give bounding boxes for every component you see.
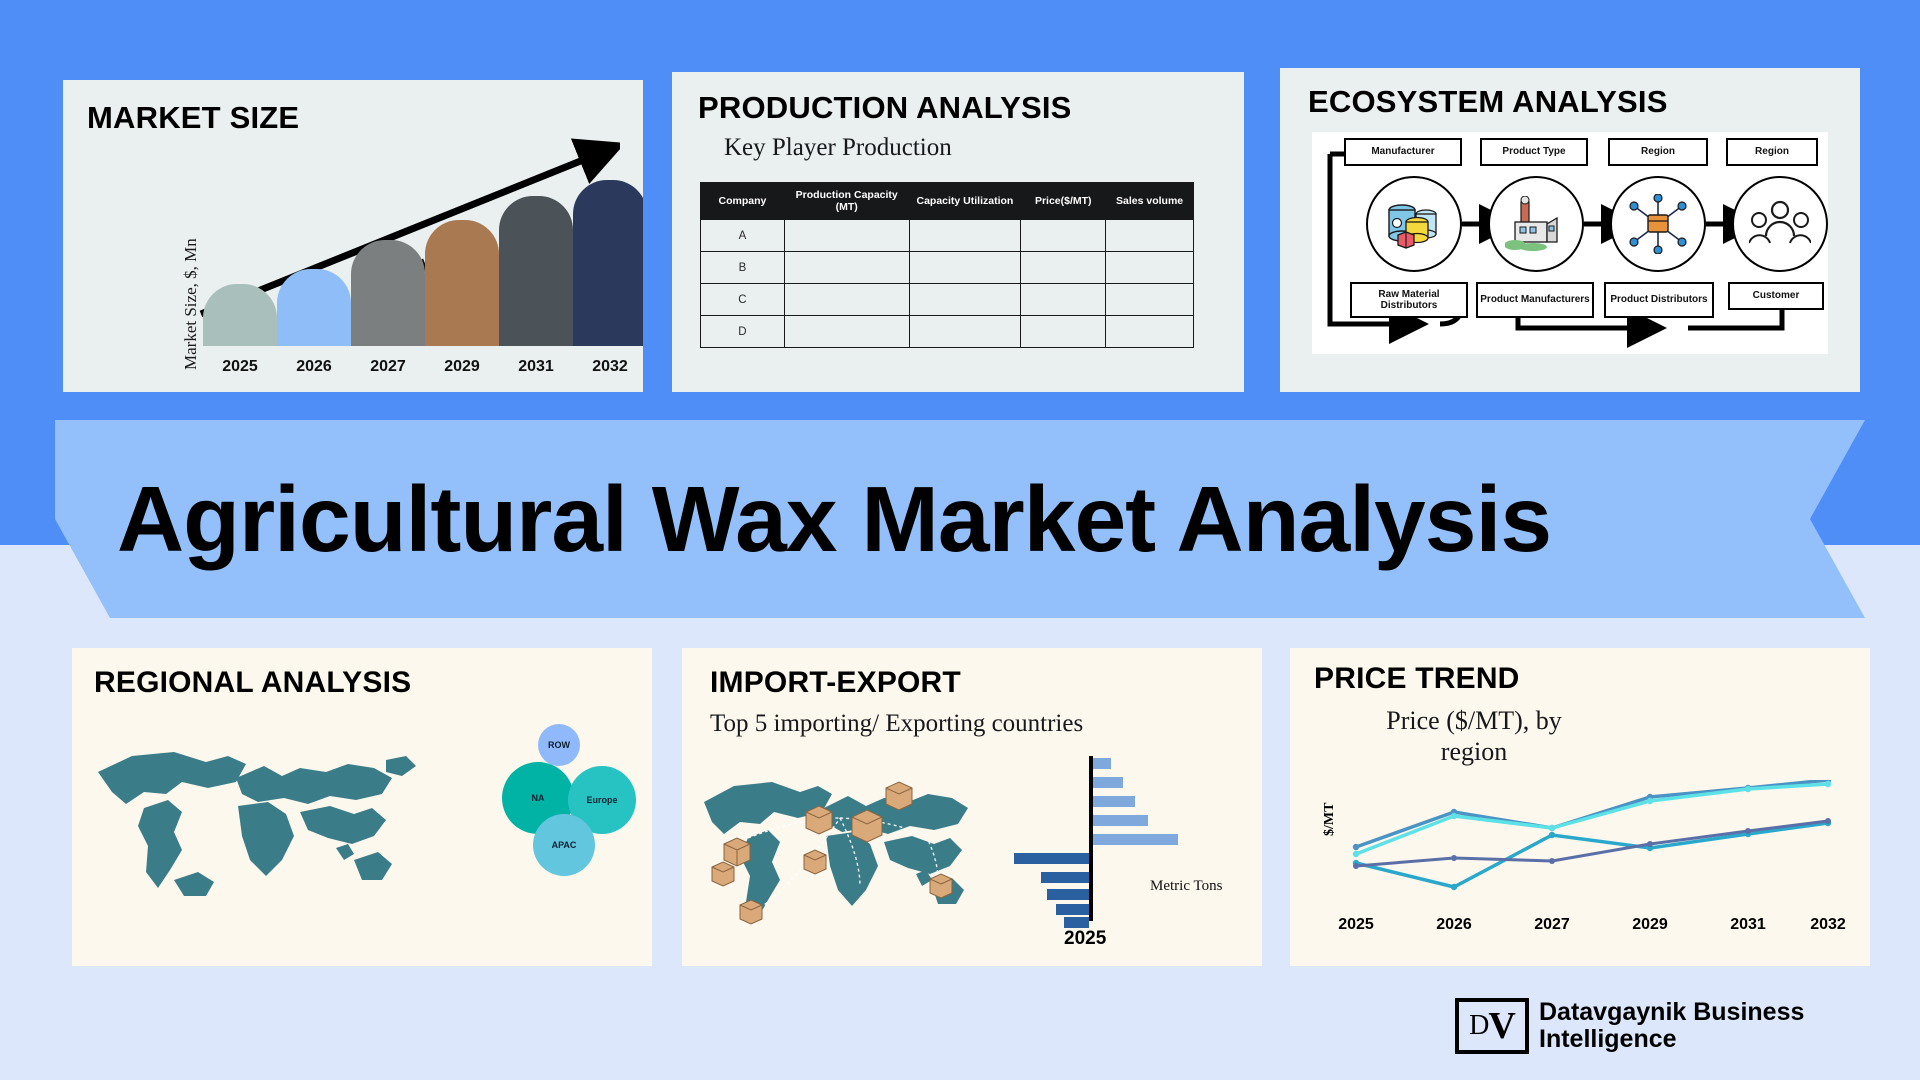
bar-year-label: 2026 bbox=[277, 358, 351, 376]
trade-world-map-icon bbox=[700, 758, 980, 948]
cell-company: B bbox=[701, 252, 785, 284]
bar-2029 bbox=[425, 220, 499, 346]
production-title: PRODUCTION ANALYSIS bbox=[698, 90, 1072, 126]
col-utilization: Capacity Utilization bbox=[909, 183, 1021, 220]
export-bar-5 bbox=[1064, 917, 1089, 928]
card-ecosystem-analysis: ECOSYSTEM ANALYSIS bbox=[1280, 68, 1860, 392]
cell-company: D bbox=[701, 316, 785, 348]
factory-icon bbox=[1505, 196, 1567, 252]
eco-top-box-region-2: Region bbox=[1726, 138, 1818, 166]
col-capacity: Production Capacity (MT) bbox=[784, 183, 909, 220]
logo-line-1: Datavgaynik Business bbox=[1539, 999, 1804, 1027]
bar-year-label: 2025 bbox=[203, 358, 277, 376]
export-bar-4 bbox=[1056, 904, 1089, 915]
tornado-unit-label: Metric Tons bbox=[1150, 878, 1222, 895]
card-market-size: MARKET SIZE Market Size, $, Mn CAGR~15% … bbox=[63, 80, 643, 392]
col-price: Price($/MT) bbox=[1021, 183, 1106, 220]
bar-year-label: 2027 bbox=[351, 358, 425, 376]
pt-year-label: 2025 bbox=[1327, 916, 1385, 934]
eco-top-box-region-1: Region bbox=[1608, 138, 1708, 166]
cell-capacity bbox=[784, 284, 909, 316]
cell-utilization bbox=[909, 284, 1021, 316]
cell-sales bbox=[1106, 316, 1194, 348]
barrels-icon bbox=[1384, 197, 1444, 251]
pt-year-label: 2031 bbox=[1719, 916, 1777, 934]
logo-letter-v: V bbox=[1488, 1007, 1514, 1045]
price-trend-lines bbox=[1338, 780, 1848, 910]
people-icon bbox=[1749, 198, 1811, 250]
ecosystem-diagram: Manufacturer Product Type Region Region bbox=[1312, 132, 1828, 354]
table-row: A bbox=[701, 220, 1194, 252]
bar-2031 bbox=[499, 196, 573, 346]
eco-node-circle-customer bbox=[1732, 176, 1828, 272]
eco-bottom-box-customer: Customer bbox=[1728, 282, 1824, 310]
cell-company: A bbox=[701, 220, 785, 252]
price-trend-y-axis-label: $/MT bbox=[1322, 803, 1338, 836]
infographic-page: MARKET SIZE Market Size, $, Mn CAGR~15% … bbox=[0, 0, 1920, 1080]
eco-node-circle-raw-material bbox=[1366, 176, 1462, 272]
market-size-title: MARKET SIZE bbox=[87, 100, 299, 136]
eco-bottom-box-product-manufacturers: Product Manufacturers bbox=[1476, 282, 1594, 318]
cell-capacity bbox=[784, 252, 909, 284]
import-bar-3 bbox=[1093, 796, 1135, 807]
card-production-analysis: PRODUCTION ANALYSIS Key Player Productio… bbox=[672, 72, 1244, 392]
card-import-export: IMPORT-EXPORT Top 5 importing/ Exporting… bbox=[682, 648, 1262, 966]
bar-year-label: 2031 bbox=[499, 358, 573, 376]
bar-year-label: 2032 bbox=[573, 358, 643, 376]
import-bar-1 bbox=[1093, 758, 1111, 769]
pt-year-label: 2026 bbox=[1425, 916, 1483, 934]
cell-sales bbox=[1106, 252, 1194, 284]
regional-title: REGIONAL ANALYSIS bbox=[94, 666, 411, 700]
bar-2032 bbox=[573, 180, 643, 346]
eco-node-circle-product-manufacturers bbox=[1488, 176, 1584, 272]
cell-sales bbox=[1106, 284, 1194, 316]
cell-capacity bbox=[784, 316, 909, 348]
network-icon bbox=[1626, 194, 1690, 254]
bar-2027 bbox=[351, 240, 425, 346]
table-header-row: Company Production Capacity (MT) Capacit… bbox=[701, 183, 1194, 220]
eco-bottom-box-raw-material-distributors: Raw Material Distributors bbox=[1350, 282, 1468, 318]
main-title-banner: Agricultural Wax Market Analysis bbox=[55, 420, 1865, 618]
cell-company: C bbox=[701, 284, 785, 316]
card-price-trend: PRICE TREND Price ($/MT), by region $/MT bbox=[1290, 648, 1870, 966]
eco-node-circle-product-distributors bbox=[1610, 176, 1706, 272]
export-bar-2 bbox=[1041, 872, 1089, 883]
eco-bottom-box-product-distributors: Product Distributors bbox=[1604, 282, 1714, 318]
cell-sales bbox=[1106, 220, 1194, 252]
cell-capacity bbox=[784, 220, 909, 252]
market-size-bars bbox=[203, 146, 628, 346]
cell-utilization bbox=[909, 252, 1021, 284]
table-row: B bbox=[701, 252, 1194, 284]
logo-line-2: Intelligence bbox=[1539, 1026, 1804, 1054]
world-map-icon bbox=[86, 720, 426, 935]
eco-top-box-manufacturer: Manufacturer bbox=[1344, 138, 1462, 166]
bar-year-label: 2029 bbox=[425, 358, 499, 376]
key-player-production-table: Company Production Capacity (MT) Capacit… bbox=[700, 182, 1194, 348]
export-bar-1 bbox=[1014, 853, 1089, 864]
regional-bubble-chart: NA Europe APAC ROW bbox=[510, 726, 650, 886]
logo-letter-d: D bbox=[1469, 1012, 1488, 1040]
col-company: Company bbox=[701, 183, 785, 220]
import-bar-4 bbox=[1093, 815, 1148, 826]
import-bar-2 bbox=[1093, 777, 1123, 788]
eco-top-box-product-type: Product Type bbox=[1480, 138, 1588, 166]
import-export-title: IMPORT-EXPORT bbox=[710, 666, 961, 700]
bubble-row: ROW bbox=[538, 724, 580, 766]
table-row: C bbox=[701, 284, 1194, 316]
col-sales: Sales volume bbox=[1106, 183, 1194, 220]
import-bar-5 bbox=[1093, 834, 1178, 845]
logo-wordmark: Datavgaynik Business Intelligence bbox=[1539, 999, 1804, 1054]
brand-logo: DV Datavgaynik Business Intelligence bbox=[1455, 990, 1875, 1062]
price-trend-title: PRICE TREND bbox=[1314, 662, 1520, 696]
pt-year-label: 2032 bbox=[1799, 916, 1857, 934]
cell-price bbox=[1021, 252, 1106, 284]
table-row: D bbox=[701, 316, 1194, 348]
cell-utilization bbox=[909, 220, 1021, 252]
tornado-year-label: 2025 bbox=[1064, 928, 1106, 950]
cell-price bbox=[1021, 284, 1106, 316]
price-trend-subtitle: Price ($/MT), by region bbox=[1354, 706, 1594, 767]
page-title: Agricultural Wax Market Analysis bbox=[117, 466, 1551, 573]
cell-price bbox=[1021, 316, 1106, 348]
import-export-tornado-chart: Metric Tons 2025 bbox=[1002, 756, 1232, 952]
pt-year-label: 2027 bbox=[1523, 916, 1581, 934]
cell-utilization bbox=[909, 316, 1021, 348]
card-regional-analysis: REGIONAL ANALYSIS NA Europe APAC ROW bbox=[72, 648, 652, 966]
bubble-apac: APAC bbox=[533, 814, 595, 876]
import-export-subtitle: Top 5 importing/ Exporting countries bbox=[710, 710, 1083, 738]
pt-year-label: 2029 bbox=[1621, 916, 1679, 934]
bar-2025 bbox=[203, 284, 277, 346]
production-subtitle: Key Player Production bbox=[724, 134, 952, 162]
export-bar-3 bbox=[1047, 889, 1089, 900]
logo-mark-dv: DV bbox=[1455, 998, 1529, 1054]
ecosystem-title: ECOSYSTEM ANALYSIS bbox=[1308, 84, 1668, 120]
bar-2026 bbox=[277, 269, 351, 346]
cell-price bbox=[1021, 220, 1106, 252]
tornado-center-axis bbox=[1089, 756, 1093, 921]
